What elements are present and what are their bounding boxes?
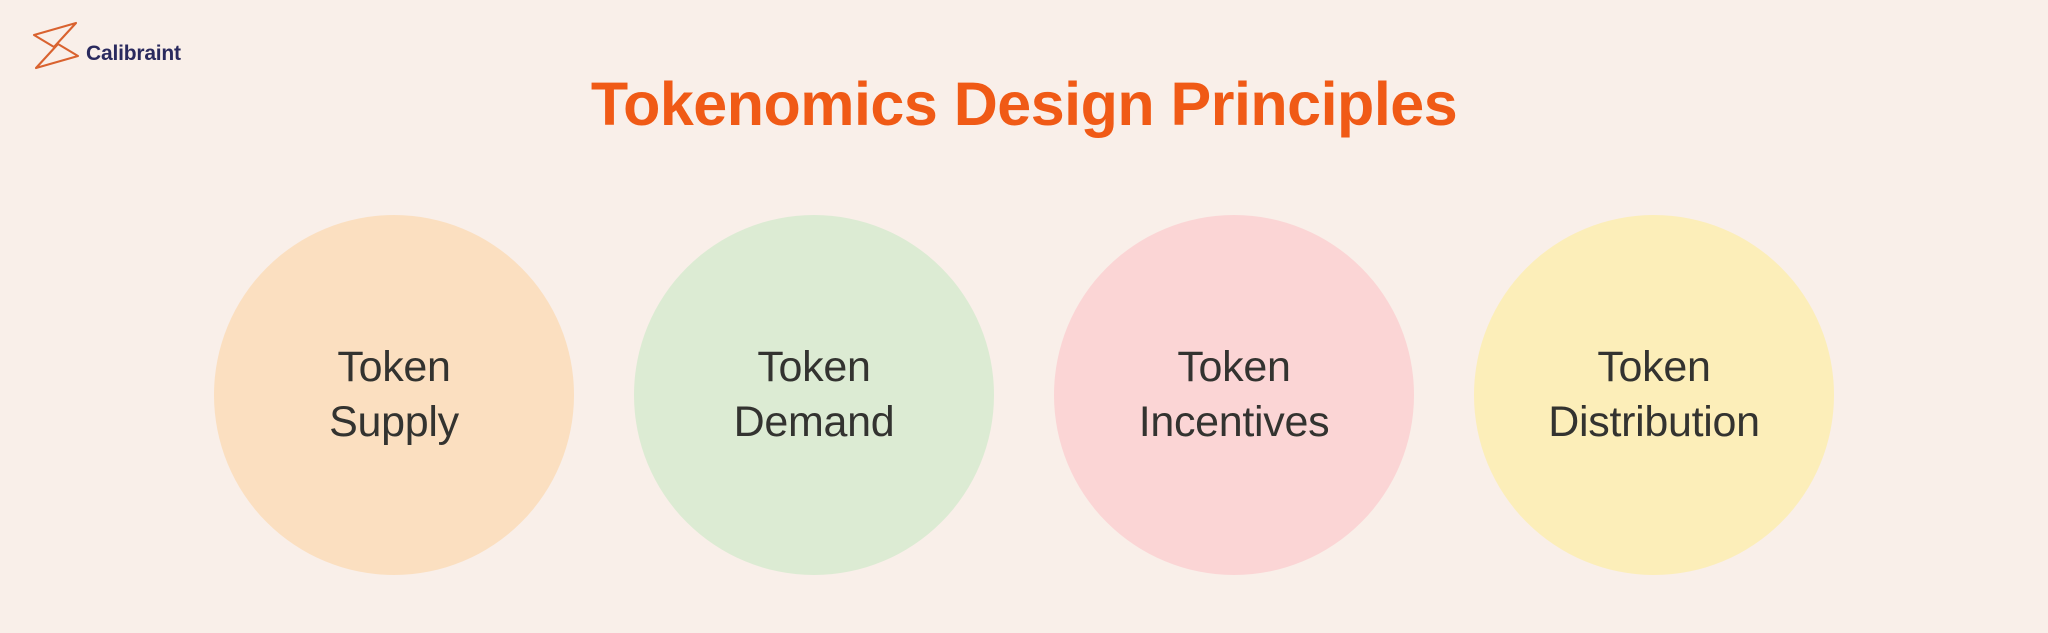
brand-logo[interactable]: Calibraint [28,14,181,76]
principle-label: Token Demand [734,340,895,449]
principle-circle-token-distribution[interactable]: Token Distribution [1474,215,1834,575]
page-title: Tokenomics Design Principles [0,72,2048,136]
calibraint-z-logo-icon [28,14,84,76]
principle-circle-token-supply[interactable]: Token Supply [214,215,574,575]
principle-label: Token Incentives [1139,340,1330,449]
principle-circle-token-demand[interactable]: Token Demand [634,215,994,575]
principles-circle-row: Token Supply Token Demand Token Incentiv… [0,205,2048,585]
principle-label: Token Supply [329,340,459,449]
brand-name: Calibraint [86,43,181,64]
principle-label: Token Distribution [1548,340,1759,449]
principle-circle-token-incentives[interactable]: Token Incentives [1054,215,1414,575]
